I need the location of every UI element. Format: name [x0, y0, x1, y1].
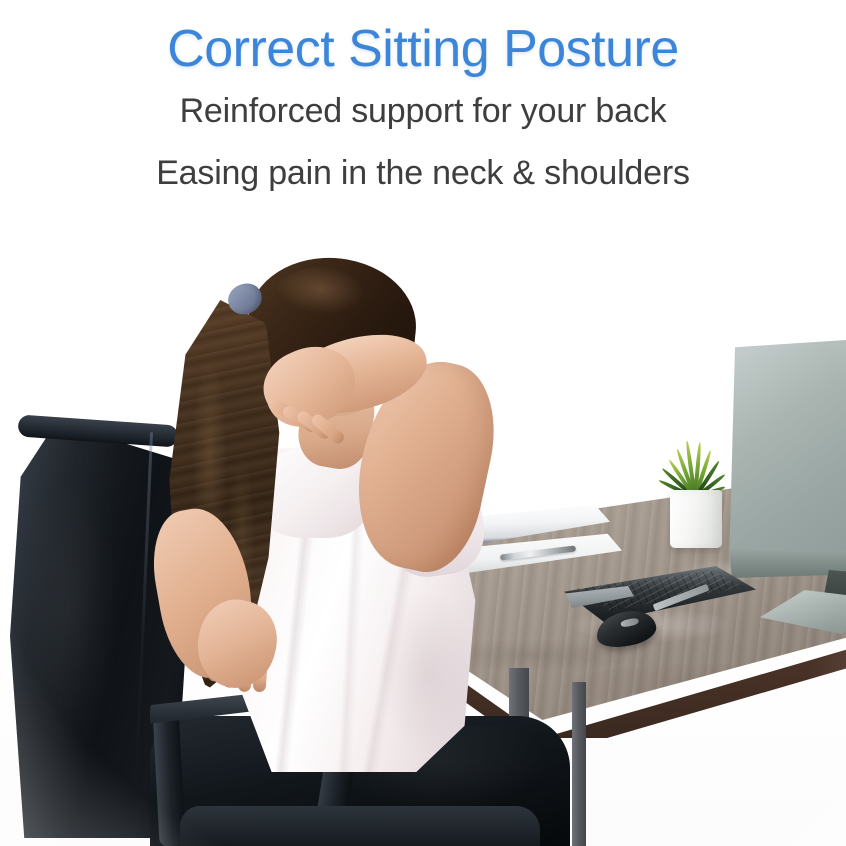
promo-text-block: Correct Sitting Posture Reinforced suppo… [0, 0, 846, 210]
subtitle-line-1: Reinforced support for your back [0, 80, 846, 142]
subtitle-line-2: Easing pain in the neck & shoulders [0, 142, 846, 204]
page-title: Correct Sitting Posture [0, 0, 846, 80]
promo-image-canvas: Correct Sitting Posture Reinforced suppo… [0, 0, 846, 846]
